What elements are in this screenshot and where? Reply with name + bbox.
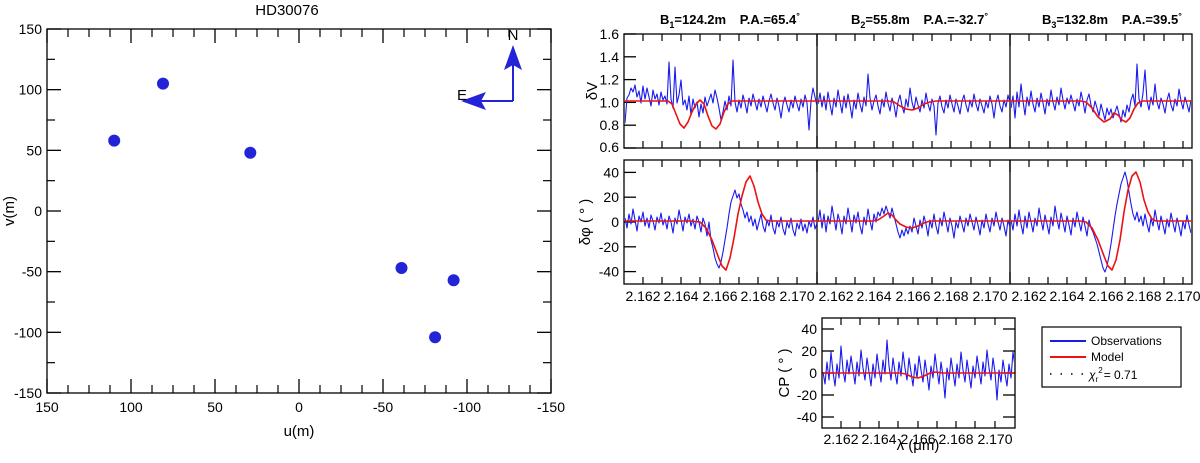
legend-label-chi: χr2= 0.71 — [1088, 366, 1138, 384]
vis-b2-observations — [818, 74, 1010, 135]
phase-x-tick-labels: 2.162 2.164 2.166 2.168 2.170 2.162 2.16… — [625, 288, 1200, 304]
uv-plot-frame — [47, 29, 551, 393]
uv-point — [429, 331, 441, 343]
cp-xtick-4: 2.170 — [977, 431, 1012, 447]
uv-ytick-5: -100 — [14, 324, 42, 340]
uv-xtick-4: -50 — [373, 399, 393, 415]
cp-xtick-0: 2.162 — [823, 431, 858, 447]
phase-panel-b2-curves — [818, 206, 1010, 238]
phase-b1-observations — [625, 190, 817, 268]
phase-ytick-4: -40 — [599, 264, 619, 280]
uv-point — [396, 262, 408, 274]
phase-ytick-0: 40 — [603, 164, 619, 180]
uv-coverage-panel: HD30076 150 100 50 — [1, 2, 565, 440]
phase-panel-b3-curves — [1011, 172, 1191, 272]
cp-ytick-3: -20 — [797, 387, 817, 403]
vis-ytick-1: 1.4 — [600, 49, 620, 65]
cp-curves — [823, 340, 1015, 400]
phase-ytick-2: 0 — [611, 214, 619, 230]
uv-point — [448, 274, 460, 286]
cp-ytick-4: -40 — [797, 409, 817, 425]
phase-xtick-c3-3: 2.168 — [1126, 288, 1161, 304]
closure-phase-panel: 40 20 0 -20 -40 CP ( ° ) λ (μm) 2.162 2.… — [776, 318, 1015, 454]
phase-ytick-1: 20 — [603, 189, 619, 205]
phase-xtick-c2-1: 2.164 — [856, 288, 891, 304]
vis-ylabel: δV — [584, 82, 601, 100]
vis-panel-b1-curves — [625, 60, 817, 130]
cp-ytick-0: 40 — [801, 321, 817, 337]
phase-xtick-c2-3: 2.168 — [933, 288, 968, 304]
phase-xtick-c1-1: 2.164 — [663, 288, 698, 304]
uv-ytick-0: 150 — [19, 21, 43, 37]
vis-x-ticks — [643, 34, 1183, 148]
phase-xtick-c2-2: 2.166 — [895, 288, 930, 304]
phase-xtick-c1-3: 2.168 — [740, 288, 775, 304]
uv-xtick-2: 50 — [207, 399, 223, 415]
phase-xtick-c1-0: 2.162 — [625, 288, 660, 304]
visibility-row: 1.6 1.4 1.2 1.0 0.8 0.6 δV — [584, 26, 1192, 155]
phase-panel-b1-curves — [625, 176, 817, 270]
vis-ytick-5: 0.6 — [600, 139, 620, 155]
uv-point — [244, 147, 256, 159]
panel-header-b2: B2=55.8m P.A.=-32.7° — [851, 11, 988, 30]
uv-xtick-1: 100 — [119, 399, 143, 415]
vis-ytick-4: 0.8 — [600, 117, 620, 133]
phase-y-axis: 40 20 0 -20 -40 — [599, 160, 1010, 284]
uv-point — [108, 135, 120, 147]
cp-ytick-2: 0 — [809, 365, 817, 381]
phase-b3-model — [1011, 172, 1191, 270]
phase-xtick-c1-4: 2.170 — [779, 288, 814, 304]
uv-y-axis: 150 100 50 0 -50 -100 -150 — [14, 21, 551, 401]
phase-b2-observations — [818, 206, 1010, 238]
phase-xtick-c2-4: 2.170 — [972, 288, 1007, 304]
phase-xtick-c3-0: 2.162 — [1011, 288, 1046, 304]
compass-east-label: E — [457, 87, 467, 104]
legend-label-model: Model — [1091, 350, 1124, 364]
vis-panel-b2-curves — [818, 74, 1010, 135]
vis-ytick-2: 1.2 — [600, 72, 620, 88]
phase-xtick-c3-2: 2.166 — [1088, 288, 1123, 304]
compass-north-label: N — [508, 27, 519, 44]
cp-model — [823, 372, 1015, 378]
phase-xtick-c1-2: 2.166 — [702, 288, 737, 304]
cp-observations — [823, 340, 1015, 400]
vis-ytick-0: 1.6 — [600, 26, 620, 42]
cp-xtick-1: 2.164 — [861, 431, 896, 447]
uv-point — [157, 78, 169, 90]
vis-b3-observations — [1011, 64, 1191, 122]
uv-xtick-0: 150 — [35, 399, 59, 415]
figure-canvas: HD30076 150 100 50 — [0, 0, 1200, 463]
panel-header-b3: B3=132.8m P.A.=39.5° — [1042, 11, 1182, 30]
uv-x-axis: 150 100 50 0 -50 -100 -150 — [35, 29, 565, 415]
phase-xtick-c3-1: 2.164 — [1049, 288, 1084, 304]
vis-b1-model — [625, 100, 817, 129]
legend-label-observations: Observations — [1091, 334, 1162, 348]
figure-svg: HD30076 150 100 50 — [0, 0, 1200, 463]
uv-ytick-4: -50 — [22, 264, 42, 280]
uv-xlabel: u(m) — [284, 423, 315, 440]
phase-xtick-c2-0: 2.162 — [818, 288, 853, 304]
cp-ylabel: CP ( ° ) — [776, 348, 793, 397]
uv-ytick-1: 100 — [19, 82, 43, 98]
panel-header-b1: B1=124.2m P.A.=65.4° — [660, 11, 800, 30]
cp-x-tick-labels: 2.162 2.164 2.166 2.168 2.170 — [823, 431, 1012, 447]
cp-xtick-3: 2.168 — [938, 431, 973, 447]
panel-headers: B1=124.2m P.A.=65.4° B2=55.8m P.A.=-32.7… — [660, 11, 1182, 30]
uv-ylabel: v(m) — [1, 196, 18, 226]
vis-ytick-3: 1.0 — [600, 94, 620, 110]
phase-xtick-c3-4: 2.170 — [1165, 288, 1200, 304]
uv-data-points — [108, 78, 459, 344]
uv-xtick-5: -100 — [453, 399, 481, 415]
uv-xtick-6: -150 — [537, 399, 565, 415]
vis-panel-b3-curves — [1011, 64, 1191, 122]
vis-y-axis: 1.6 1.4 1.2 1.0 0.8 0.6 — [600, 26, 1010, 155]
legend-box: Observations Model χr2= 0.71 — [1042, 327, 1181, 387]
phase-row: 40 20 0 -20 -40 δφ ( ° ) — [577, 160, 1200, 304]
visibility-row-frame — [624, 34, 1192, 148]
cp-xtick-2: 2.166 — [900, 431, 935, 447]
phase-ylabel: δφ ( ° ) — [577, 199, 594, 246]
uv-ytick-2: 50 — [26, 142, 42, 158]
cp-ytick-1: 20 — [801, 343, 817, 359]
phase-ytick-3: -20 — [599, 239, 619, 255]
uv-xtick-3: 0 — [295, 399, 303, 415]
uv-ytick-3: 0 — [34, 203, 42, 219]
uv-panel-title: HD30076 — [255, 2, 318, 19]
phase-b3-observations — [1011, 172, 1191, 272]
